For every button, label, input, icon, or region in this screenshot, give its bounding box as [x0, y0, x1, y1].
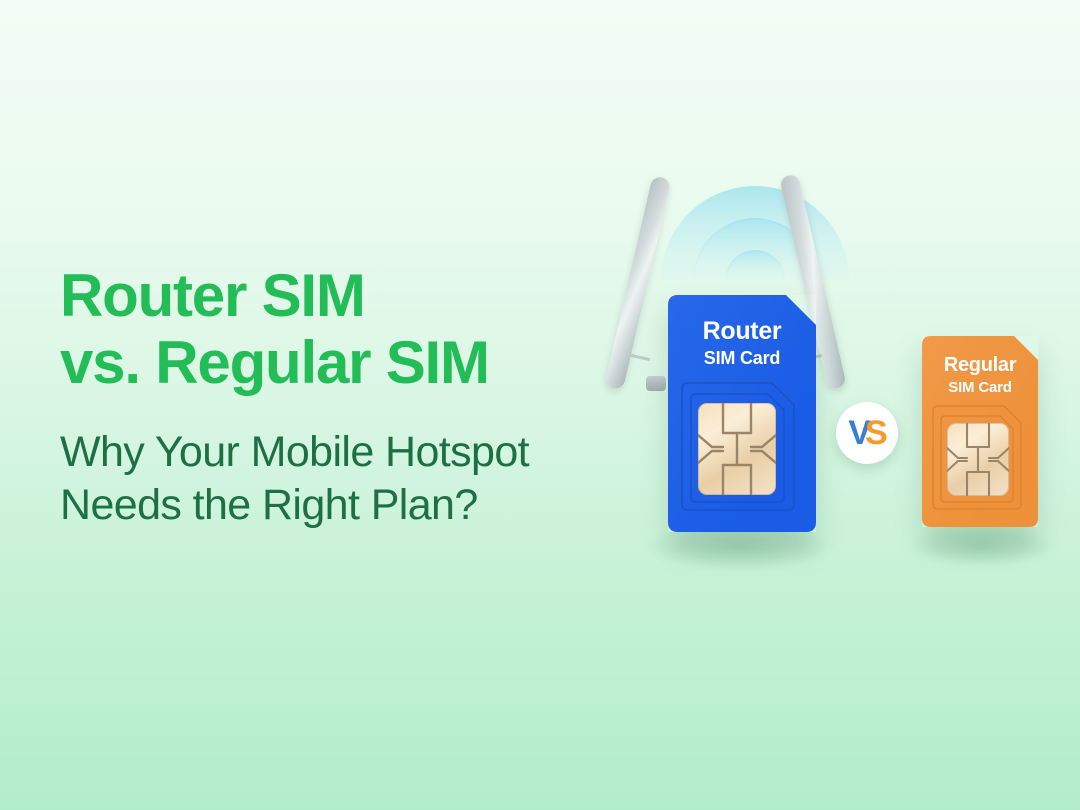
antenna-left-joint [646, 376, 666, 391]
regular-card-shadow [912, 524, 1052, 566]
chip-contacts [947, 423, 1009, 496]
router-card-title: Router [668, 317, 816, 346]
hero-banner: Router SIM vs. Regular SIM Why Your Mobi… [0, 0, 1080, 810]
regular-card-subtitle: SIM Card [922, 379, 1038, 396]
antenna-left-ring [631, 354, 650, 361]
regular-card-chip-icon [947, 423, 1009, 496]
regular-sim-card[interactable]: Regular SIM Card [922, 336, 1038, 527]
regular-card-title: Regular [922, 354, 1038, 377]
wifi-signal-icon [655, 160, 855, 290]
router-sim-card[interactable]: Router SIM Card [668, 295, 816, 532]
router-card-subtitle: SIM Card [668, 348, 816, 369]
router-card-chip-icon [698, 403, 776, 495]
chip-contacts [698, 403, 776, 495]
vs-badge: V S [836, 402, 898, 464]
vs-badge-letter-s: S [865, 416, 886, 450]
sim-comparison-illustration: Router SIM Card [560, 140, 1080, 600]
